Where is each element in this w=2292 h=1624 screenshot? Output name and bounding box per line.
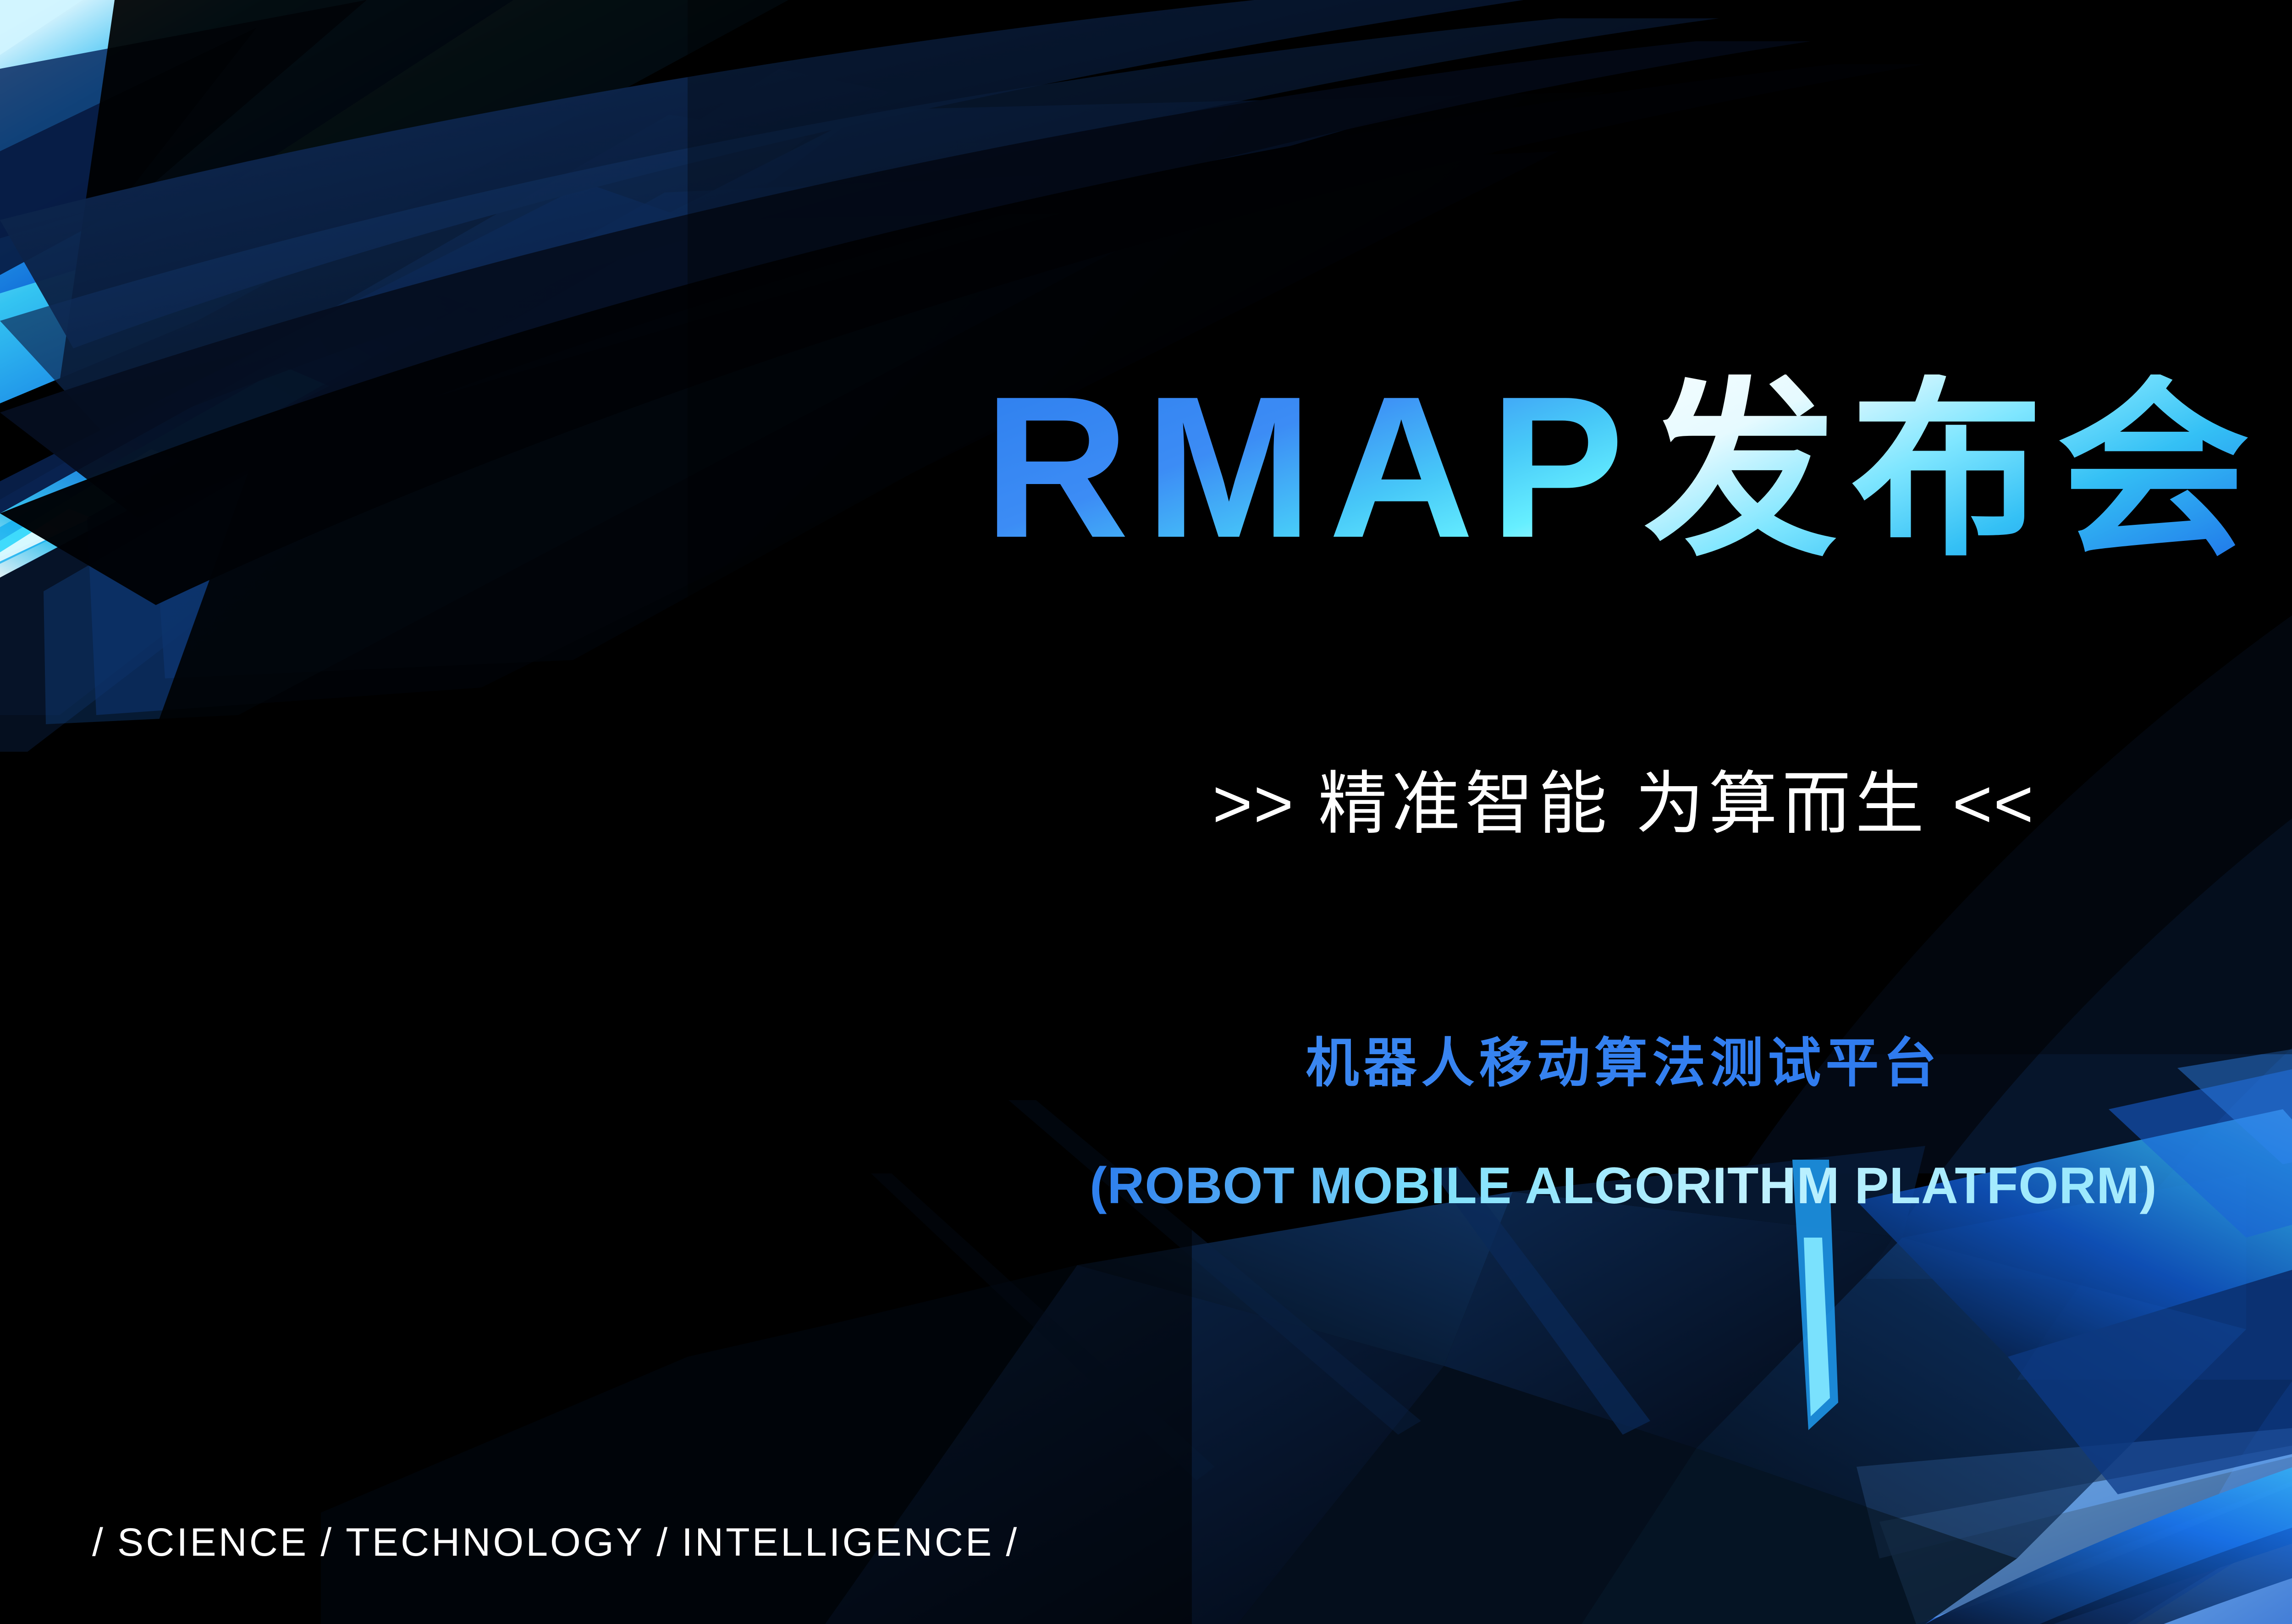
tagline-slash-1: / (309, 1520, 346, 1564)
slogan-line: >> 精准智能 为算而生 << (0, 761, 2292, 847)
slogan-text: 精准智能 为算而生 (1318, 765, 1929, 842)
platform-name-cn: 机器人移动算法测试平台 (0, 1031, 2292, 1095)
title-latin: RMAP (984, 367, 1645, 568)
page-title: RMAP 发布会 (0, 367, 2292, 568)
tagline-slash-0: / (80, 1520, 117, 1564)
tagline-keyword-intelligence: INTELLIGENCE (682, 1520, 994, 1564)
tagline-keyword-science: SCIENCE (117, 1520, 309, 1564)
title-cn: 发布会 (1644, 374, 2263, 567)
footer-tagline: /SCIENCE/TECHNOLOGY/INTELLIGENCE/ (80, 1523, 1031, 1562)
slogan-right-chevron: << (1952, 765, 2034, 842)
platform-name-en: (ROBOT MOBILE ALGORITHM PLATFORM) (0, 1155, 2292, 1217)
poster-canvas: 上海机器人产业技术研究院 SHANGHAI ROBOT INDUSTRIAL T… (0, 0, 2292, 1624)
slogan-left-chevron: >> (1212, 765, 1295, 842)
tagline-slash-3: / (994, 1520, 1031, 1564)
tagline-slash-2: / (645, 1520, 682, 1564)
tagline-keyword-technology: TECHNOLOGY (346, 1520, 645, 1564)
